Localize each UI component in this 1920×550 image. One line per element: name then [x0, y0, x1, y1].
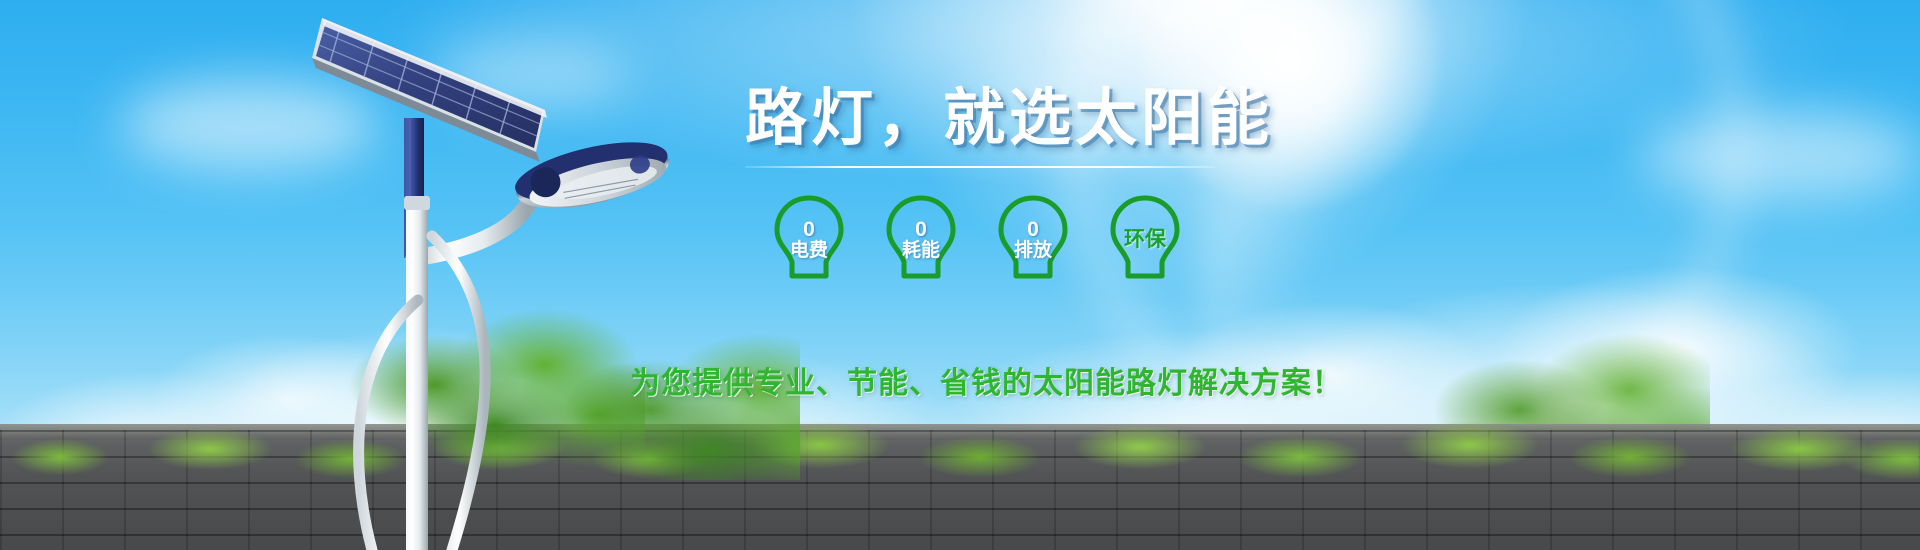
- badge-label: 耗能: [902, 241, 940, 261]
- cloud-wisp: [430, 40, 630, 110]
- banner-tagline: 为您提供专业、节能、省钱的太阳能路灯解决方案！: [630, 358, 1343, 402]
- badge-label: 环保: [1124, 229, 1166, 251]
- badge-zero-value: 0: [803, 219, 815, 240]
- climbing-vines: [0, 397, 1920, 492]
- badge-zero-value: 0: [1027, 219, 1039, 240]
- page-title: 路灯，就选太阳能: [745, 88, 1265, 150]
- badge-hao-neng[interactable]: 0 耗能: [882, 192, 960, 287]
- badge-zero-value: 0: [915, 219, 927, 240]
- badge-dian-fei[interactable]: 0 电费: [770, 192, 848, 287]
- feature-badge-list: 0 电费 0 耗能 0 排放 环保: [770, 192, 1184, 287]
- badge-huan-bao[interactable]: 环保: [1106, 192, 1184, 287]
- title-divider: [745, 166, 1215, 168]
- tree-foliage: [560, 330, 800, 480]
- copy-block: 路灯，就选太阳能: [745, 88, 1265, 168]
- cloud-wisp: [120, 80, 380, 170]
- cloud-wisp: [1640, 110, 1920, 200]
- badge-label: 电费: [790, 241, 828, 261]
- badge-label: 排放: [1014, 241, 1052, 261]
- solar-streetlight-banner: 路灯，就选太阳能 0 电费 0 耗能 0 排放: [0, 0, 1920, 550]
- badge-pai-fang[interactable]: 0 排放: [994, 192, 1072, 287]
